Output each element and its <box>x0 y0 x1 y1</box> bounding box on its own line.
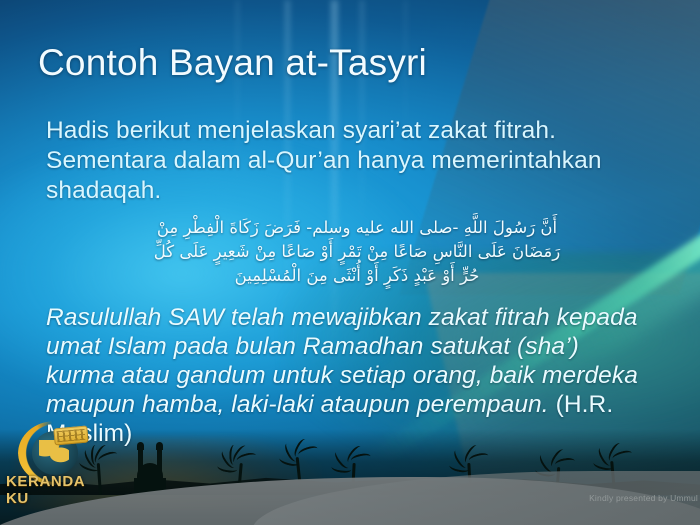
arabic-hadith-text: أَنَّ رَسُولَ اللَّهِ -صلى الله عليه وسل… <box>46 216 656 288</box>
arabic-line: أَنَّ رَسُولَ اللَّهِ -صلى الله عليه وسل… <box>80 216 634 240</box>
logo-banner-shape <box>53 426 88 446</box>
intro-paragraph: Hadis berikut menjelaskan syari’at zakat… <box>46 116 602 206</box>
credit-text: Kindly presented by Ummul <box>589 493 698 503</box>
translation-paragraph: Rasulullah SAW telah mewajibkan zakat fi… <box>46 303 646 448</box>
watermark-logo: KERANDA KU <box>6 421 110 507</box>
arabic-line: حُرٍّ أَوْ عَبْدٍ ذَكَرٍ أَوْ أُنْثَى مِ… <box>80 264 634 288</box>
presentation-slide: Contoh Bayan at-Tasyri Hadis berikut men… <box>0 0 700 525</box>
arabic-line: رَمَضَانَ عَلَى النَّاسِ صَاعًا مِنْ تَم… <box>80 240 634 264</box>
slide-body: Hadis berikut menjelaskan syari’at zakat… <box>46 116 656 448</box>
slide-title: Contoh Bayan at-Tasyri <box>38 42 427 84</box>
brand-name: KERANDA KU <box>6 473 110 507</box>
